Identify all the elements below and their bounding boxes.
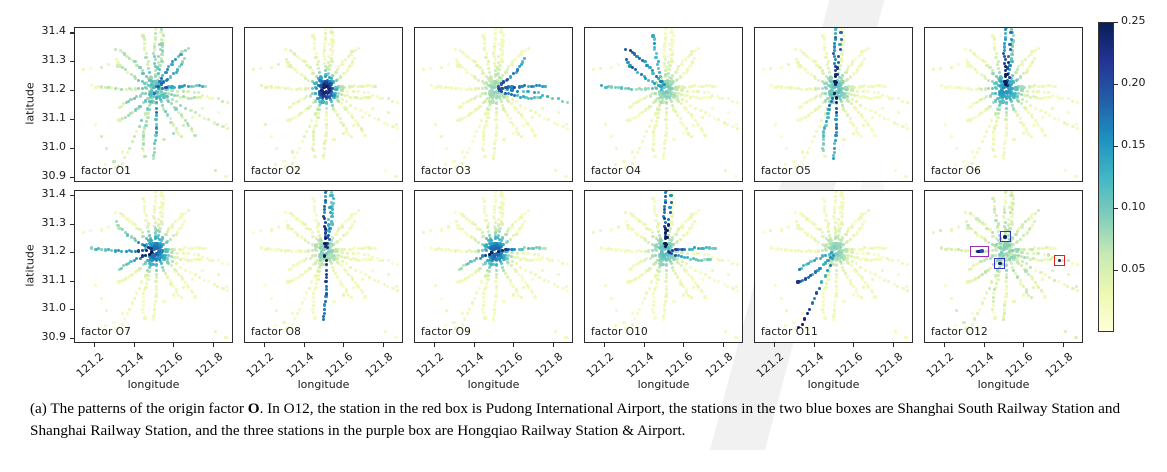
station-dot xyxy=(440,135,443,138)
station-dot xyxy=(296,312,299,315)
station-dot xyxy=(142,300,145,303)
station-dot xyxy=(839,211,842,214)
station-dot xyxy=(519,258,522,261)
station-dot xyxy=(835,285,838,288)
station-dot xyxy=(183,220,186,223)
station-dot xyxy=(665,27,668,29)
station-dot xyxy=(301,301,304,304)
station-dot xyxy=(641,59,644,62)
station-dot xyxy=(721,97,724,100)
station-dot xyxy=(498,206,501,209)
station-dot xyxy=(371,94,374,97)
station-dot xyxy=(671,266,674,269)
station-dot xyxy=(516,90,519,93)
station-dot xyxy=(636,233,639,236)
station-dot xyxy=(1003,312,1006,315)
station-dot xyxy=(502,300,505,303)
station-dot xyxy=(832,318,835,321)
station-dot xyxy=(172,132,175,135)
station-dot xyxy=(1026,90,1029,93)
station-dot xyxy=(350,135,353,138)
station-dot xyxy=(173,94,176,97)
station-dot xyxy=(655,282,658,285)
station-dot xyxy=(1009,84,1012,87)
station-dot xyxy=(1029,266,1032,269)
station-dot xyxy=(100,228,103,231)
station-dot xyxy=(470,250,473,253)
station-dot xyxy=(325,288,328,291)
station-dot xyxy=(731,125,734,128)
station-dot xyxy=(823,205,826,208)
station-dot xyxy=(485,214,488,217)
station-dot xyxy=(492,157,495,160)
panel-label: factor O5 xyxy=(761,165,811,177)
station-dot xyxy=(324,75,327,78)
station-dot xyxy=(654,56,657,59)
station-dot xyxy=(482,311,485,314)
station-dot xyxy=(162,300,165,303)
station-dot xyxy=(160,194,163,197)
station-dot xyxy=(495,276,498,279)
station-dot xyxy=(856,90,859,93)
station-dot xyxy=(669,211,672,214)
station-dot xyxy=(189,271,192,274)
station-dot xyxy=(708,114,711,117)
station-dot xyxy=(894,330,897,333)
station-dot xyxy=(842,197,845,200)
station-dot xyxy=(665,114,668,117)
station-dot xyxy=(995,282,998,285)
station-dot xyxy=(805,55,808,58)
station-dot xyxy=(689,96,692,99)
station-dot xyxy=(170,255,173,258)
station-dot xyxy=(846,240,849,243)
station-dot xyxy=(323,242,326,245)
station-dot xyxy=(1004,191,1007,194)
station-dot xyxy=(846,98,849,101)
station-dot xyxy=(835,126,838,129)
station-dot xyxy=(502,107,505,110)
station-dot xyxy=(968,280,971,283)
station-dot xyxy=(653,42,656,45)
station-dot xyxy=(531,278,534,281)
station-dot xyxy=(1027,55,1030,58)
station-dot xyxy=(155,292,158,295)
station-dot xyxy=(316,225,319,228)
station-dot xyxy=(430,84,433,87)
station-dot xyxy=(834,32,837,35)
station-dot xyxy=(873,253,876,256)
station-dot xyxy=(482,130,485,133)
station-dot xyxy=(145,249,148,252)
station-dot xyxy=(640,250,643,253)
station-dot xyxy=(171,260,174,263)
station-dot xyxy=(305,95,308,98)
station-dot xyxy=(162,34,165,37)
station-dot xyxy=(849,75,852,78)
station-dot xyxy=(225,285,228,288)
station-dot xyxy=(285,58,288,61)
station-dot xyxy=(512,234,515,237)
station-dot xyxy=(1004,295,1007,298)
colorbar-tick-label: 0.05 xyxy=(1121,262,1146,275)
station-dot xyxy=(182,90,185,93)
station-dot xyxy=(275,147,278,150)
panel-label: factor O1 xyxy=(81,165,131,177)
x-axis-title: longitude xyxy=(244,378,403,391)
station-dot xyxy=(997,108,1000,111)
station-dot xyxy=(349,258,352,261)
station-dot xyxy=(330,53,333,56)
station-dot xyxy=(680,264,683,267)
station-dot xyxy=(510,63,513,66)
station-dot xyxy=(493,312,496,315)
station-dot xyxy=(901,287,904,290)
station-dot xyxy=(656,116,659,119)
station-dot xyxy=(679,121,682,124)
station-dot xyxy=(638,57,641,60)
station-dot xyxy=(169,75,172,78)
station-dot xyxy=(434,123,437,126)
station-dot xyxy=(1034,281,1037,284)
station-dot xyxy=(823,46,826,49)
station-dot xyxy=(154,139,157,142)
station-dot xyxy=(950,85,953,88)
station-dot xyxy=(155,27,158,29)
station-dot xyxy=(523,84,526,87)
station-dot xyxy=(1076,289,1079,292)
station-dot xyxy=(493,142,496,145)
station-dot xyxy=(377,280,380,283)
station-dot xyxy=(654,124,657,127)
station-dot xyxy=(850,88,853,91)
station-dot xyxy=(143,42,146,45)
station-dot xyxy=(175,288,178,291)
station-dot xyxy=(184,269,187,272)
station-dot xyxy=(445,309,448,312)
station-dot xyxy=(492,318,495,321)
scatter-panel-factor-o12: factor O12 xyxy=(924,190,1083,343)
station-dot xyxy=(478,267,481,270)
station-dot xyxy=(950,248,953,251)
station-dot xyxy=(480,119,483,122)
station-dot xyxy=(1030,248,1033,251)
station-dot xyxy=(296,151,299,154)
station-dot xyxy=(290,88,293,91)
station-dot xyxy=(724,169,727,172)
station-dot xyxy=(860,135,863,138)
station-dot xyxy=(495,81,498,84)
station-dot xyxy=(515,288,518,291)
station-dot xyxy=(1047,253,1050,256)
station-dot xyxy=(651,72,654,75)
station-dot xyxy=(780,248,783,251)
station-dot xyxy=(873,258,876,261)
station-dot xyxy=(478,287,481,290)
station-dot xyxy=(495,27,498,29)
station-dot xyxy=(182,252,185,255)
station-dot xyxy=(682,293,685,296)
station-dot xyxy=(1026,231,1029,234)
station-dot xyxy=(1010,87,1013,90)
station-dot xyxy=(138,105,141,108)
station-dot xyxy=(688,227,691,230)
station-dot xyxy=(312,142,315,145)
station-dot xyxy=(324,199,327,202)
station-dot xyxy=(626,119,629,122)
station-dot xyxy=(856,68,859,71)
station-dot xyxy=(146,107,149,110)
station-dot xyxy=(711,85,714,88)
station-dot xyxy=(142,296,145,299)
station-dot xyxy=(735,123,738,126)
station-dot xyxy=(762,68,765,71)
station-dot xyxy=(483,316,486,319)
station-dot xyxy=(610,85,613,88)
station-dot xyxy=(311,231,314,234)
station-dot xyxy=(348,65,351,68)
station-dot xyxy=(834,195,837,198)
station-dot xyxy=(339,238,342,241)
station-dot xyxy=(780,66,783,69)
station-dot xyxy=(194,111,197,114)
station-dot xyxy=(800,88,803,91)
station-dot xyxy=(504,233,507,236)
station-dot xyxy=(297,100,300,103)
station-dot xyxy=(806,233,809,236)
station-dot xyxy=(180,113,183,116)
station-dot xyxy=(127,100,130,103)
station-dot xyxy=(463,317,466,320)
station-dot xyxy=(175,127,178,130)
station-dot xyxy=(313,205,316,208)
station-dot xyxy=(350,85,353,88)
station-dot xyxy=(324,118,327,121)
station-dot xyxy=(651,87,654,90)
station-dot xyxy=(565,285,568,288)
station-dot xyxy=(524,212,527,215)
station-dot xyxy=(874,111,877,114)
station-dot xyxy=(291,312,294,315)
station-dot xyxy=(1005,285,1008,288)
station-dot xyxy=(494,195,497,198)
station-dot xyxy=(1043,253,1046,256)
station-dot xyxy=(1014,88,1017,91)
station-dot xyxy=(307,241,310,244)
station-dot xyxy=(486,107,489,110)
station-dot xyxy=(174,107,177,110)
station-dot xyxy=(217,97,220,100)
station-dot xyxy=(484,56,487,59)
station-dot xyxy=(859,104,862,107)
station-dot xyxy=(366,96,369,99)
station-dot xyxy=(557,97,560,100)
station-dot xyxy=(322,315,325,318)
station-dot xyxy=(143,155,146,158)
station-dot xyxy=(867,209,870,212)
station-dot xyxy=(483,42,486,45)
station-dot xyxy=(822,134,825,137)
station-dot xyxy=(985,130,988,133)
station-dot xyxy=(311,34,314,37)
station-dot xyxy=(530,259,533,262)
station-dot xyxy=(1043,295,1046,298)
station-dot xyxy=(487,60,490,63)
station-dot xyxy=(422,68,425,71)
station-dot xyxy=(1053,279,1056,282)
station-dot xyxy=(324,69,327,72)
station-dot xyxy=(510,255,513,258)
station-dot xyxy=(349,104,352,107)
station-dot xyxy=(502,34,505,37)
station-dot xyxy=(305,291,308,294)
station-dot xyxy=(734,175,737,178)
station-dot xyxy=(1053,117,1056,120)
station-dot xyxy=(1023,86,1026,89)
station-dot xyxy=(322,318,325,321)
y-tick-label: 31.0 xyxy=(28,140,66,153)
station-dot xyxy=(270,85,273,88)
station-dot xyxy=(350,248,353,251)
station-dot xyxy=(133,135,136,138)
station-dot xyxy=(277,63,280,66)
station-dot xyxy=(604,284,607,287)
station-dot xyxy=(866,90,869,93)
station-dot xyxy=(821,231,824,234)
station-dot xyxy=(391,287,394,290)
station-dot xyxy=(531,291,534,294)
station-dot xyxy=(862,124,865,127)
station-dot xyxy=(862,90,865,93)
station-dot xyxy=(957,63,960,66)
station-dot xyxy=(340,264,343,267)
station-dot xyxy=(798,227,801,230)
station-dot xyxy=(486,112,489,115)
station-dot xyxy=(823,126,826,129)
station-dot xyxy=(175,71,178,74)
scatter-panel-factor-o1: factor O1 xyxy=(74,27,233,182)
station-dot xyxy=(445,147,448,150)
station-dot xyxy=(665,288,668,291)
station-dot xyxy=(481,72,484,75)
station-dot xyxy=(150,83,153,86)
station-dot xyxy=(1039,271,1042,274)
station-dot xyxy=(468,308,471,311)
station-dot xyxy=(801,150,804,153)
station-dot xyxy=(308,66,311,69)
station-dot xyxy=(144,124,147,127)
station-dot xyxy=(347,218,350,221)
station-dot xyxy=(878,114,881,117)
station-dot xyxy=(1029,53,1032,56)
station-dot xyxy=(482,292,485,295)
station-dot xyxy=(475,130,478,133)
station-dot xyxy=(813,223,816,226)
station-dot xyxy=(992,292,995,295)
station-dot xyxy=(147,67,150,70)
x-tick-mark xyxy=(723,343,724,347)
station-dot xyxy=(557,273,560,276)
station-dot xyxy=(312,292,315,295)
station-dot xyxy=(813,60,816,63)
station-dot xyxy=(648,267,651,270)
station-dot xyxy=(1011,104,1014,107)
station-dot xyxy=(499,194,502,197)
station-dot xyxy=(652,296,655,299)
station-dot xyxy=(290,250,293,253)
station-dot xyxy=(787,225,790,228)
station-dot xyxy=(176,252,179,255)
station-dot xyxy=(126,312,129,315)
station-dot xyxy=(189,109,192,112)
station-dot xyxy=(306,107,309,110)
station-dot xyxy=(1076,127,1079,130)
station-dot xyxy=(327,234,330,237)
station-dot xyxy=(631,150,634,153)
station-dot xyxy=(349,53,352,56)
station-dot xyxy=(651,69,654,72)
station-dot xyxy=(1004,32,1007,35)
station-dot xyxy=(501,39,504,42)
station-dot xyxy=(825,214,828,217)
station-dot xyxy=(834,199,837,202)
station-dot xyxy=(697,47,700,50)
station-dot xyxy=(630,105,633,108)
station-dot xyxy=(652,138,655,141)
station-dot xyxy=(298,87,301,90)
station-dot xyxy=(1051,94,1054,97)
station-dot xyxy=(1037,47,1040,50)
station-dot xyxy=(955,309,958,312)
station-dot xyxy=(645,227,648,230)
station-dot xyxy=(100,85,103,88)
station-dot xyxy=(314,112,317,115)
station-dot xyxy=(198,276,201,279)
station-dot xyxy=(1019,117,1022,120)
station-dot xyxy=(348,85,351,88)
station-dot xyxy=(312,138,315,141)
station-dot xyxy=(822,296,825,299)
station-dot xyxy=(651,34,654,37)
station-dot xyxy=(226,289,229,292)
station-dot xyxy=(303,223,306,226)
station-dot xyxy=(1066,123,1069,126)
station-dot xyxy=(643,297,646,300)
station-dot xyxy=(1033,84,1036,87)
station-dot xyxy=(699,109,702,112)
station-dot xyxy=(295,88,298,91)
station-dot xyxy=(447,225,450,228)
station-dot xyxy=(323,55,326,58)
station-dot xyxy=(190,127,193,130)
station-dot xyxy=(334,71,337,74)
station-dot xyxy=(147,60,150,63)
station-dot xyxy=(823,155,826,158)
station-dot xyxy=(1051,107,1054,110)
station-dot xyxy=(324,237,327,240)
blue-box-shanghai-south-rail xyxy=(994,258,1005,269)
scatter-plot-area xyxy=(925,28,1082,181)
station-dot xyxy=(315,282,318,285)
station-dot xyxy=(350,226,353,229)
station-dot xyxy=(897,97,900,100)
station-dot xyxy=(180,85,183,88)
station-dot xyxy=(822,300,825,303)
station-dot xyxy=(839,31,842,34)
station-dot xyxy=(460,267,463,270)
station-dot xyxy=(1071,262,1074,265)
station-dot xyxy=(668,68,671,71)
